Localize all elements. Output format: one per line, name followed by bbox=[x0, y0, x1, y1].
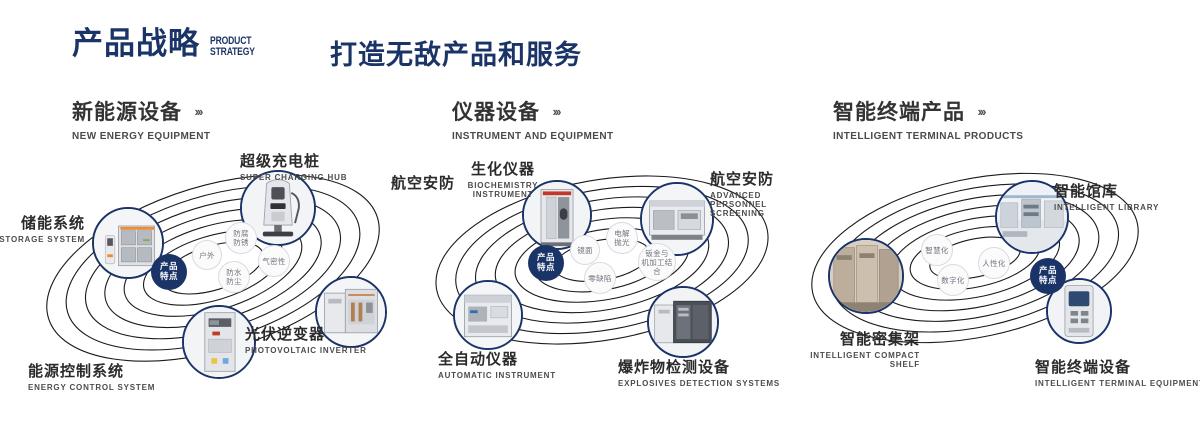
product-strategy-infographic: 产品战略 PRODUCT STRATEGY 打造无敌产品和服务 新能源设备 ››… bbox=[0, 0, 1200, 422]
control-cabinet-icon bbox=[184, 307, 254, 377]
bubble-line1: 电解 bbox=[614, 229, 630, 238]
label-energy-control-system: 能源控制系统 ENERGY CONTROL SYSTEM bbox=[28, 360, 155, 392]
core-label-line2: 特点 bbox=[1039, 276, 1057, 286]
label-energy-storage-system: 储能系统 ENERGY STORAGE SYSTEM bbox=[0, 212, 85, 244]
label-cn: 智能馆库 bbox=[1054, 180, 1159, 201]
chevron-right-icon: ››› bbox=[194, 104, 201, 119]
feature-bubble-anticorrosion: 防腐 防锈 bbox=[225, 222, 257, 254]
diagram-group-intelligent-terminal: 产品 特点 智慧化 人性化 数字化 智能馆库 INTELLIGENT LIBRA… bbox=[790, 150, 1200, 410]
label-automatic-instrument: 全自动仪器 AUTOMATIC INSTRUMENT bbox=[438, 348, 556, 380]
core-product-features: 产品 特点 bbox=[151, 254, 187, 290]
bubble-line2: 抛光 bbox=[614, 238, 630, 247]
chevron-right-icon: ››› bbox=[977, 104, 984, 119]
feature-bubble-airtightness: 气密性 bbox=[258, 245, 290, 277]
section-heading-en: INSTRUMENT AND EQUIPMENT bbox=[452, 131, 613, 142]
core-product-features: 产品 特点 bbox=[1030, 258, 1066, 294]
label-en: EXPLOSIVES DETECTION SYSTEMS bbox=[618, 379, 780, 388]
page-title-cn: 产品战略 bbox=[72, 28, 200, 59]
label-en: BIOCHEMISTRY INSTRUMENT bbox=[448, 181, 558, 199]
label-en: INTELLIGENT TERMINAL EQUIPMENT bbox=[1035, 379, 1200, 388]
label-en: PHOTOVOLTAIC INVERTER bbox=[245, 346, 367, 355]
section-heading-cn: 智能终端产品 bbox=[833, 96, 965, 126]
label-explosives-detection-systems: 爆炸物检测设备 EXPLOSIVES DETECTION SYSTEMS bbox=[618, 356, 780, 388]
label-aviation-security-left: 航空安防 bbox=[360, 172, 455, 193]
label-cn: 航空安防 bbox=[360, 172, 455, 193]
label-cn: 超级充电桩 bbox=[240, 150, 347, 171]
label-cn: 光伏逆变器 bbox=[245, 323, 367, 344]
label-biochemistry-instrument: 生化仪器 BIOCHEMISTRY INSTRUMENT bbox=[448, 158, 558, 199]
label-cn: 智能密集架 bbox=[780, 328, 920, 349]
feature-bubble-digital: 数字化 bbox=[937, 264, 969, 296]
label-en: AUTOMATIC INSTRUMENT bbox=[438, 371, 556, 380]
section-heading-intelligent-terminal: 智能终端产品 ››› INTELLIGENT TERMINAL PRODUCTS bbox=[833, 96, 1023, 142]
bubble-line1: 户外 bbox=[199, 251, 215, 260]
bubble-line1: 防水 bbox=[226, 268, 242, 277]
page-title: 产品战略 PRODUCT STRATEGY bbox=[72, 28, 267, 59]
label-cn: 储能系统 bbox=[0, 212, 85, 233]
feature-bubble-sheetmetal-machining: 钣金与 机加工结合 bbox=[638, 243, 676, 281]
label-photovoltaic-inverter: 光伏逆变器 PHOTOVOLTAIC INVERTER bbox=[245, 323, 367, 355]
node-automatic-instrument[interactable] bbox=[453, 280, 523, 350]
bubble-line1: 防腐 bbox=[233, 229, 249, 238]
label-en: INTELLIGENT COMPACT SHELF bbox=[780, 351, 920, 369]
feature-bubble-zero-defect: 零缺陷 bbox=[584, 262, 616, 294]
label-intelligent-compact-shelf: 智能密集架 INTELLIGENT COMPACT SHELF bbox=[780, 328, 920, 369]
page-subtitle: 打造无敌产品和服务 bbox=[330, 33, 582, 72]
bubble-line2: 防锈 bbox=[233, 238, 249, 247]
detection-rack-icon bbox=[649, 288, 717, 356]
compact-shelving-icon bbox=[830, 240, 902, 312]
page-title-en: PRODUCT STRATEGY bbox=[210, 36, 255, 58]
core-label-line2: 特点 bbox=[160, 272, 178, 282]
bubble-line1: 数字化 bbox=[941, 276, 964, 285]
chevron-right-icon: ››› bbox=[552, 104, 559, 119]
feature-bubble-humanized: 人性化 bbox=[978, 247, 1010, 279]
bubble-line1: 零缺陷 bbox=[588, 274, 611, 283]
label-en: ENERGY STORAGE SYSTEM bbox=[0, 235, 85, 244]
bubble-line1: 人性化 bbox=[982, 259, 1005, 268]
label-cn: 爆炸物检测设备 bbox=[618, 356, 780, 377]
feature-bubble-mirror: 镜面 bbox=[570, 235, 600, 265]
label-super-charging-hub: 超级充电桩 SUPER CHARGING HUB bbox=[240, 150, 347, 182]
bubble-line1: 镜面 bbox=[577, 246, 593, 255]
label-cn: 全自动仪器 bbox=[438, 348, 556, 369]
bubble-line1: 气密性 bbox=[262, 257, 285, 266]
section-heading-cn: 仪器设备 bbox=[452, 96, 540, 126]
core-label-line2: 特点 bbox=[537, 263, 555, 273]
page-title-en-line2: STRATEGY bbox=[210, 47, 255, 58]
node-explosives-detection-systems[interactable] bbox=[647, 286, 719, 358]
section-heading-en: INTELLIGENT TERMINAL PRODUCTS bbox=[833, 131, 1023, 142]
node-intelligent-compact-shelf[interactable] bbox=[828, 238, 904, 314]
automatic-analyzer-icon bbox=[455, 282, 521, 348]
label-intelligent-library: 智能馆库 INTELLIGENT LIBRARY bbox=[1054, 180, 1159, 212]
bubble-line1: 智慧化 bbox=[925, 246, 948, 255]
label-cn: 生化仪器 bbox=[448, 158, 558, 179]
section-heading-instrument: 仪器设备 ››› INSTRUMENT AND EQUIPMENT bbox=[452, 96, 613, 142]
label-cn: 能源控制系统 bbox=[28, 360, 155, 381]
feature-bubble-waterproof: 防水 防尘 bbox=[218, 261, 250, 293]
label-cn: 智能终端设备 bbox=[1035, 356, 1200, 377]
bubble-line2: 防尘 bbox=[226, 277, 242, 286]
bubble-line1: 钣金与 bbox=[645, 249, 668, 258]
section-heading-en: NEW ENERGY EQUIPMENT bbox=[72, 131, 210, 142]
label-en: INTELLIGENT LIBRARY bbox=[1054, 203, 1159, 212]
section-heading-cn: 新能源设备 bbox=[72, 96, 182, 126]
feature-bubble-electropolishing: 电解 抛光 bbox=[606, 222, 638, 254]
label-intelligent-terminal-equipment: 智能终端设备 INTELLIGENT TERMINAL EQUIPMENT bbox=[1035, 356, 1200, 388]
label-en: SUPER CHARGING HUB bbox=[240, 173, 347, 182]
bubble-line2: 机加工结合 bbox=[639, 258, 675, 276]
feature-bubble-intelligent: 智慧化 bbox=[921, 234, 953, 266]
label-en: ENERGY CONTROL SYSTEM bbox=[28, 383, 155, 392]
core-product-features: 产品 特点 bbox=[528, 245, 564, 281]
section-heading-new-energy: 新能源设备 ››› NEW ENERGY EQUIPMENT bbox=[72, 96, 210, 142]
diagram-group-instrument: 产品 特点 镜面 电解 抛光 零缺陷 钣金与 机加工结合 航空安防 生化仪器 B… bbox=[400, 150, 800, 410]
feature-bubble-outdoor: 户外 bbox=[192, 240, 222, 270]
